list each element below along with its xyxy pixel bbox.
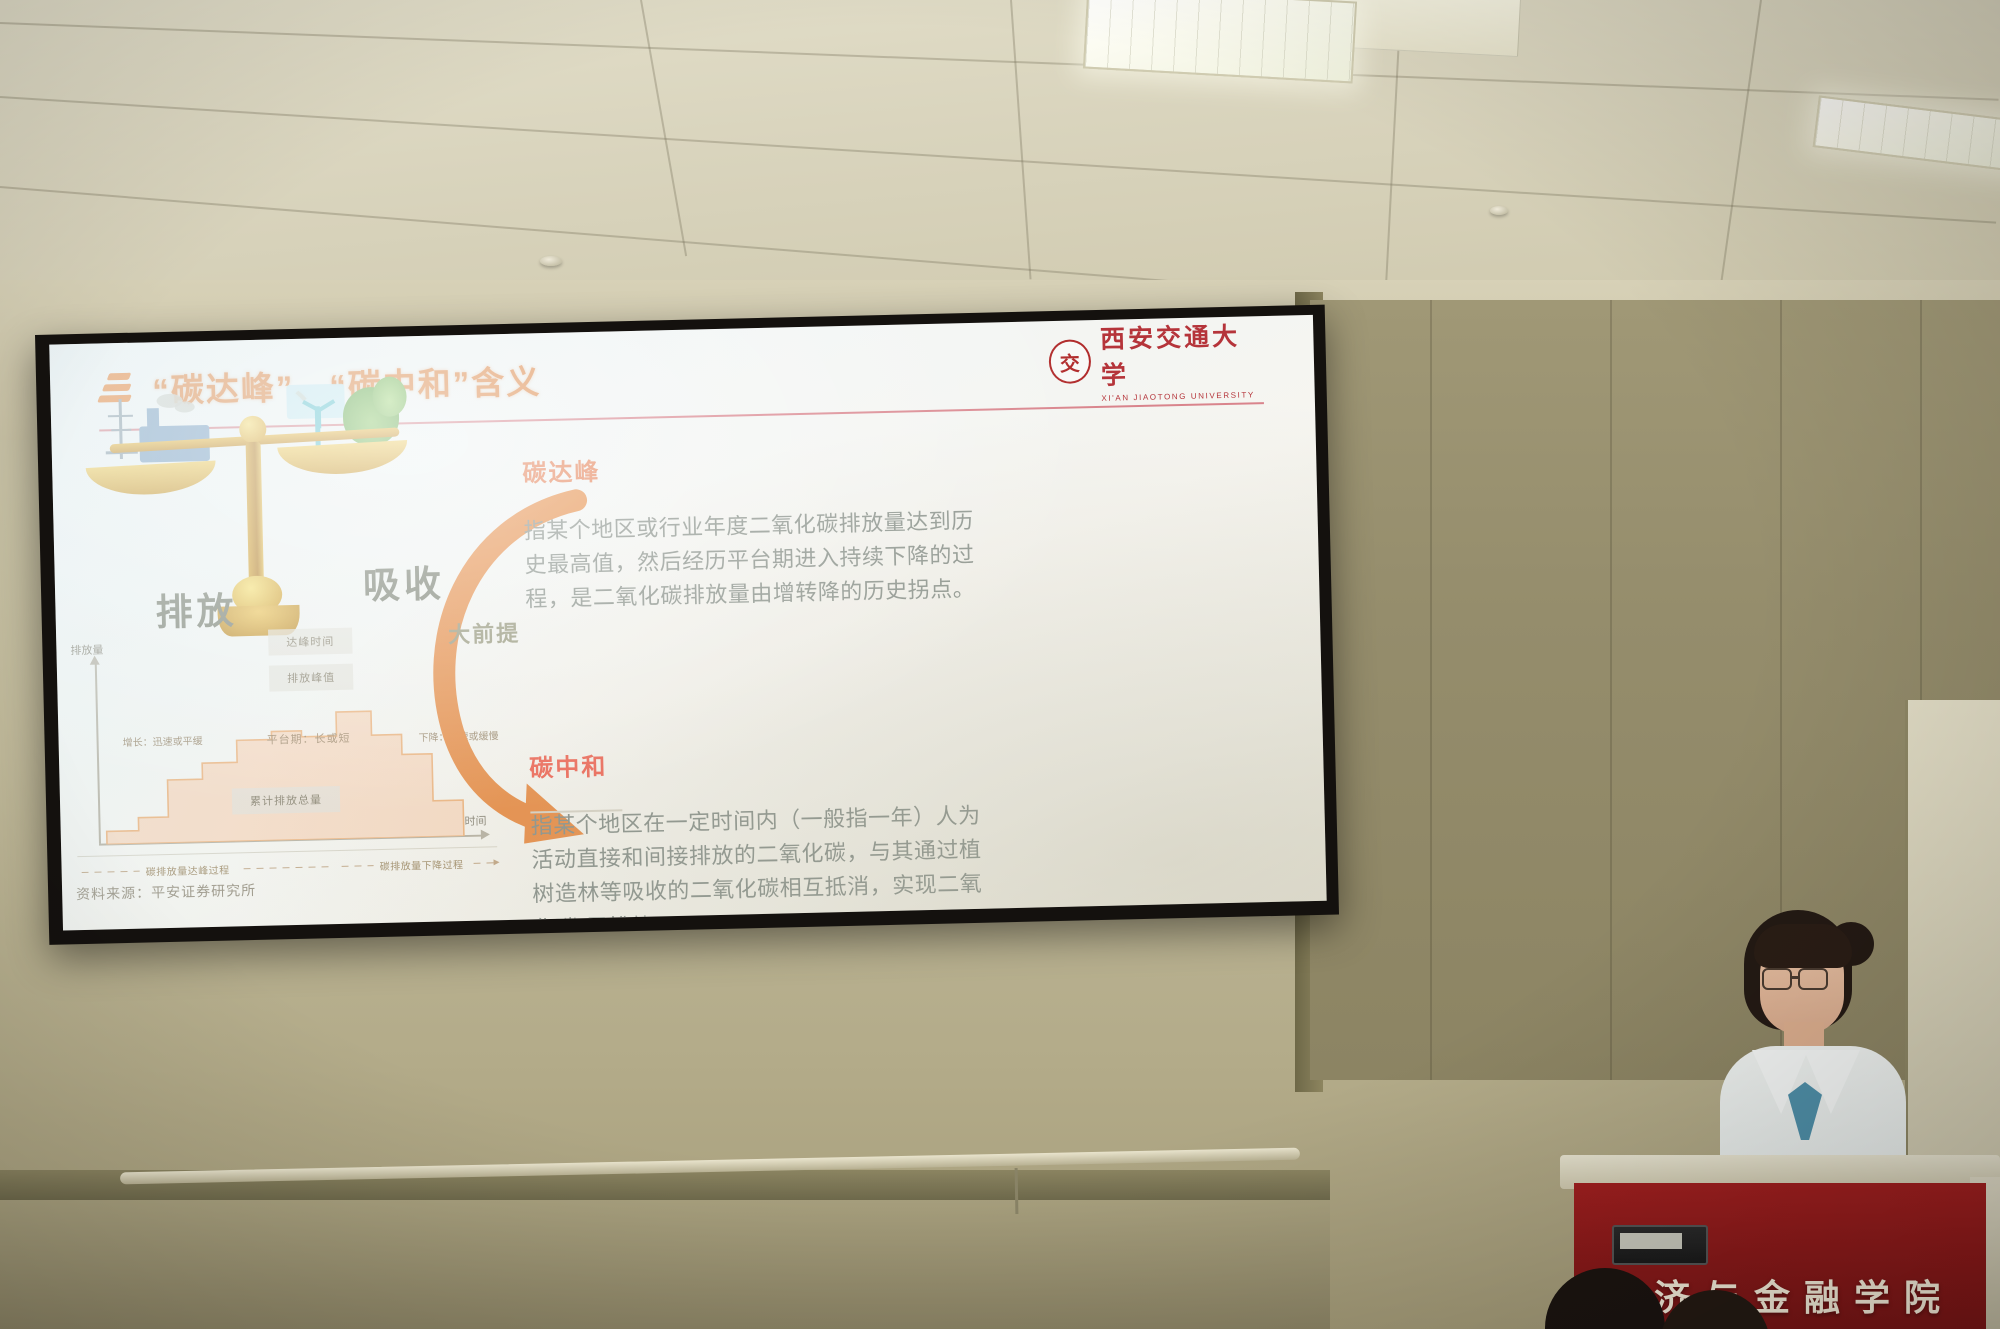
projection-screen: “碳达峰”、“碳中和”含义 交 西安交通大学 XI'AN JIAOTONG UN…	[35, 305, 1339, 945]
ceiling	[0, 0, 2000, 300]
smoke-detector	[1490, 206, 1508, 215]
arrow-label-premise: 大前提	[448, 616, 521, 650]
lower-wall	[0, 1200, 1330, 1329]
label-emission: 排放	[155, 580, 238, 636]
university-name-cn: 西安交通大学	[1100, 316, 1260, 392]
projected-slide: “碳达峰”、“碳中和”含义 交 西安交通大学 XI'AN JIAOTONG UN…	[49, 315, 1326, 931]
glasses-bridge	[1792, 976, 1800, 979]
podium-control-panel[interactable]	[1612, 1225, 1708, 1265]
slide-content: “碳达峰”、“碳中和”含义 交 西安交通大学 XI'AN JIAOTONG UN…	[49, 315, 1326, 931]
chart-tag-cumulative: 累计排放总量	[232, 786, 341, 815]
chart-tag-peak-time: 达峰时间	[268, 628, 353, 656]
smoke-detector	[540, 256, 562, 266]
scale-pan-right	[277, 440, 409, 478]
university-logo: 交 西安交通大学 XI'AN JIAOTONG UNIVERSITY	[1048, 330, 1259, 389]
ceiling-light	[1813, 95, 2000, 172]
definitions-column: 碳达峰 指某个地区或行业年度二氧化碳排放量达到历史最高值，然后经历平台期进入持续…	[522, 436, 1273, 930]
glasses-lens-right	[1798, 968, 1828, 990]
screenshot-root: “碳达峰”、“碳中和”含义 交 西安交通大学 XI'AN JIAOTONG UN…	[0, 0, 2000, 1329]
heading-carbon-neutral: 碳中和	[529, 731, 1270, 783]
chart-footer-rule	[77, 846, 497, 857]
tree-icon	[372, 376, 407, 417]
scale-post	[246, 442, 264, 584]
body-carbon-peak: 指某个地区或行业年度二氧化碳排放量达到历史最高值，然后经历平台期进入持续下降的过…	[523, 503, 995, 616]
ceiling-light	[1083, 0, 1357, 83]
emission-icon	[100, 391, 222, 472]
chart-note-growth: 增长：迅速或平缓	[122, 735, 202, 750]
chart-note-plateau: 平台期：长或短	[266, 730, 350, 748]
chart-phase-decline: 碳排放量下降过程	[379, 856, 463, 873]
university-seal-icon: 交	[1048, 339, 1091, 384]
body-carbon-neutral: 指某个地区在一定时间内（一般指一年）人为活动直接和间接排放的二氧化碳，与其通过植…	[530, 799, 1003, 931]
chart-phase-peak: 碳排放量达峰过程	[145, 862, 229, 879]
y-axis-label: 排放量	[70, 641, 103, 658]
chart-tag-peak-value: 排放峰值	[269, 664, 354, 692]
glasses-lens-left	[1762, 968, 1792, 990]
source-note: 资料来源：平安证券研究所	[76, 880, 256, 904]
hair-fringe	[1754, 924, 1852, 968]
podium-institution-label: 经济与金融学院	[1604, 1269, 2000, 1321]
scale-pan-left	[86, 461, 218, 499]
heading-carbon-peak: 碳达峰	[522, 436, 1263, 488]
